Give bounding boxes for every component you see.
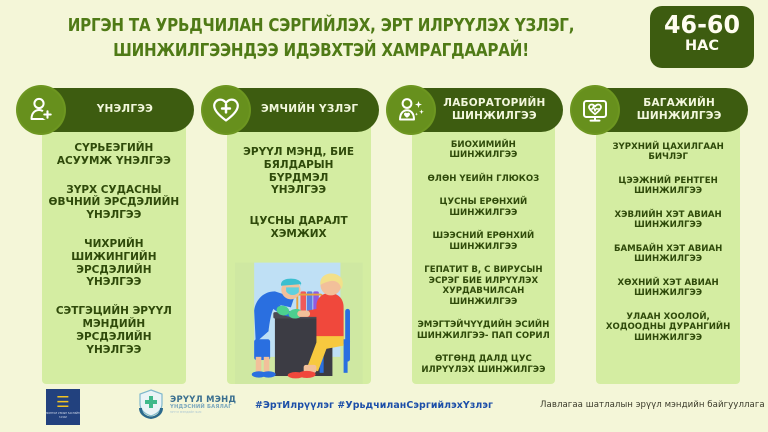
column-assessment: ҮНЭЛГЭЭ СҮРЬЕЭГИЙН АСУУМЖ ҮНЭЛГЭЭ ЗҮРХ С…: [18, 88, 196, 384]
column-title: ҮНЭЛГЭЭ: [97, 103, 153, 116]
category-columns: ҮНЭЛГЭЭ СҮРЬЕЭГИЙН АСУУМЖ ҮНЭЛГЭЭ ЗҮРХ С…: [0, 88, 768, 384]
list-item: ХӨХНИЙ ХЭТ АВИАН ШИНЖИЛГЭЭ: [600, 278, 736, 299]
list-item: ӨЛӨН ҮЕИЙН ГЛЮКОЗ: [416, 174, 552, 184]
shield-cross-hands-icon: [136, 388, 166, 420]
column-body-instrumental: ЗҮРХНИЙ ЦАХИЛГААН БИЧЛЭГ ЦЭЭЖНИЙ РЕНТГЕН…: [596, 120, 740, 384]
list-item: ЭМЭГТЭЙЧҮҮДИЙН ЭСИЙН ШИНЖИЛГЭЭ- ПАП СОРИ…: [416, 320, 552, 341]
column-title: ЭМЧИЙН ҮЗЛЭГ: [261, 103, 358, 116]
government-logo-text: МОНГОЛ УЛСЫН ЗАСГИЙН ГАЗАР: [46, 412, 80, 418]
headline-line-1: ИРГЭН ТА УРЬДЧИЛАН СЭРГИЙЛЭХ, ЭРТ ИЛРҮҮЛ…: [68, 16, 575, 36]
list-item: УЛААН ХООЛОЙ, ХОДООДНЫ ДУРАНГИЙН ШИНЖИЛГ…: [600, 312, 736, 343]
header: ИРГЭН ТА УРЬДЧИЛАН СЭРГИЙЛЭХ, ЭРТ ИЛРҮҮЛ…: [0, 0, 768, 78]
column-doctor-exam: ЭМЧИЙН ҮЗЛЭГ ЭРҮҮЛ МЭНД, БИЕ БЯЛДАРЫН БҮ…: [203, 88, 381, 384]
health-logo-caption: ЭРҮҮЛ МЭНДИЙН ЯАМ: [170, 411, 236, 415]
column-body-assessment: СҮРЬЕЭГИЙН АСУУМЖ ҮНЭЛГЭЭ ЗҮРХ СУДАСНЫ Ө…: [42, 120, 186, 384]
health-ministry-logo: ЭРҮҮЛ МЭНД ҮНДЭСНИЙ БАЯЛАГ ЭРҮҮЛ МЭНДИЙН…: [136, 388, 236, 420]
column-body-doctor-exam: ЭРҮҮЛ МЭНД, БИЕ БЯЛДАРЫН БҮРДМЭЛ ҮНЭЛГЭЭ…: [227, 120, 371, 384]
column-header-laboratory: ЛАБОРАТОРИЙН ШИНЖИЛГЭЭ: [402, 88, 564, 132]
list-item: ЦЭЭЖНИЙ РЕНТГЕН ШИНЖИЛГЭЭ: [600, 176, 736, 197]
list-item: БАМБАЙН ХЭТ АВИАН ШИНЖИЛГЭЭ: [600, 244, 736, 265]
age-range-badge: 46-60 НАС: [650, 6, 754, 68]
government-logo: ☰ МОНГОЛ УЛСЫН ЗАСГИЙН ГАЗАР: [46, 389, 80, 425]
list-item: ЦУСНЫ ЕРӨНХИЙ ШИНЖИЛГЭЭ: [416, 197, 552, 218]
monitor-heart-icon: [572, 87, 618, 133]
reference-note: Лавлагаа шатлалын эрүүл мэндийн байгуулл…: [540, 400, 765, 410]
list-item: ЭРҮҮЛ МЭНД, БИЕ БЯЛДАРЫН БҮРДМЭЛ ҮНЭЛГЭЭ: [233, 146, 365, 197]
page-title: ИРГЭН ТА УРЬДЧИЛАН СЭРГИЙЛЭХ, ЭРТ ИЛРҮҮЛ…: [40, 14, 603, 65]
footer: ☰ МОНГОЛ УЛСЫН ЗАСГИЙН ГАЗАР ЭРҮҮЛ МЭНД …: [0, 384, 768, 432]
list-item: ХЭВЛИЙН ХЭТ АВИАН ШИНЖИЛГЭЭ: [600, 210, 736, 231]
age-range-value: 46-60: [653, 12, 752, 38]
list-item: ГЕПАТИТ В, С ВИРУСЫН ЭСРЭГ БИЕ ИЛРҮҮЛЭХ …: [416, 265, 552, 307]
list-item: ЗҮРХ СУДАСНЫ ӨВЧНИЙ ЭРСДЭЛИЙН ҮНЭЛГЭЭ: [48, 184, 180, 222]
person-plus-icon: [18, 87, 64, 133]
column-body-laboratory: БИОХИМИЙН ШИНЖИЛГЭЭ ӨЛӨН ҮЕИЙН ГЛЮКОЗ ЦУ…: [412, 120, 556, 384]
column-header-doctor-exam: ЭМЧИЙН ҮЗЛЭГ: [217, 88, 379, 132]
list-item: ШЭЭСНИЙ ЕРӨНХИЙ ШИНЖИЛГЭЭ: [416, 231, 552, 252]
list-item: ӨТГӨНД ДАЛД ЦУС ИЛРҮҮЛЭХ ШИНЖИЛГЭЭ: [416, 354, 552, 375]
nurse-drawing-blood-illustration: [227, 232, 371, 384]
lab-person-sparkle-icon: [388, 87, 434, 133]
soyombo-icon: ☰: [56, 395, 69, 410]
column-header-assessment: ҮНЭЛГЭЭ: [32, 88, 194, 132]
list-item: БИОХИМИЙН ШИНЖИЛГЭЭ: [416, 140, 552, 161]
list-item: СҮРЬЕЭГИЙН АСУУМЖ ҮНЭЛГЭЭ: [48, 142, 180, 168]
column-laboratory: ЛАБОРАТОРИЙН ШИНЖИЛГЭЭ БИОХИМИЙН ШИНЖИЛГ…: [388, 88, 566, 384]
column-title: БАГАЖИЙН ШИНЖИЛГЭЭ: [637, 97, 722, 123]
hashtags: #ЭртИлрүүлэг #УрьдчиланСэргийлэхҮзлэг: [255, 400, 493, 411]
list-item: ЧИХРИЙН ШИЖИНГИЙН ЭРСДЭЛИЙН ҮНЭЛГЭЭ: [48, 238, 180, 289]
column-title: ЛАБОРАТОРИЙН ШИНЖИЛГЭЭ: [443, 97, 545, 123]
age-range-unit: НАС: [650, 39, 754, 55]
column-header-instrumental: БАГАЖИЙН ШИНЖИЛГЭЭ: [586, 88, 748, 132]
list-item: СЭТГЭЦИЙН ЭРҮҮЛ МЭНДИЙН ЭРСДЭЛИЙН ҮНЭЛГЭ…: [48, 305, 180, 356]
headline-line-2: ШИНЖИЛГЭЭНДЭЭ ИДЭВХТЭЙ ХАМРАГДААРАЙ!: [40, 39, 603, 64]
column-instrumental: БАГАЖИЙН ШИНЖИЛГЭЭ ЗҮРХНИЙ ЦАХИЛГААН БИЧ…: [572, 88, 750, 384]
heart-plus-icon: [203, 87, 249, 133]
list-item: ЗҮРХНИЙ ЦАХИЛГААН БИЧЛЭГ: [600, 142, 736, 163]
health-ministry-logo-text: ЭРҮҮЛ МЭНД ҮНДЭСНИЙ БАЯЛАГ ЭРҮҮЛ МЭНДИЙН…: [170, 393, 236, 415]
